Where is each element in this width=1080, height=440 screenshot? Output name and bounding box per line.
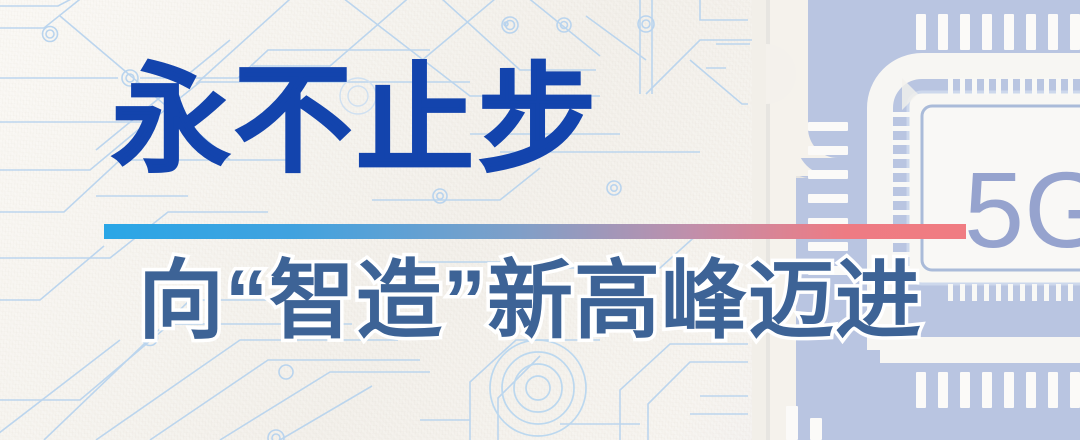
chip-label-5g: 5G (964, 156, 1080, 264)
page-title: 永不止步 (112, 62, 600, 180)
promo-banner: 永不止步 向“智造”新高峰迈进 5G (0, 0, 1080, 440)
gradient-divider (104, 224, 966, 239)
signal-waves-icon (490, 340, 586, 436)
page-subtitle: 向“智造”新高峰迈进 (138, 258, 922, 344)
